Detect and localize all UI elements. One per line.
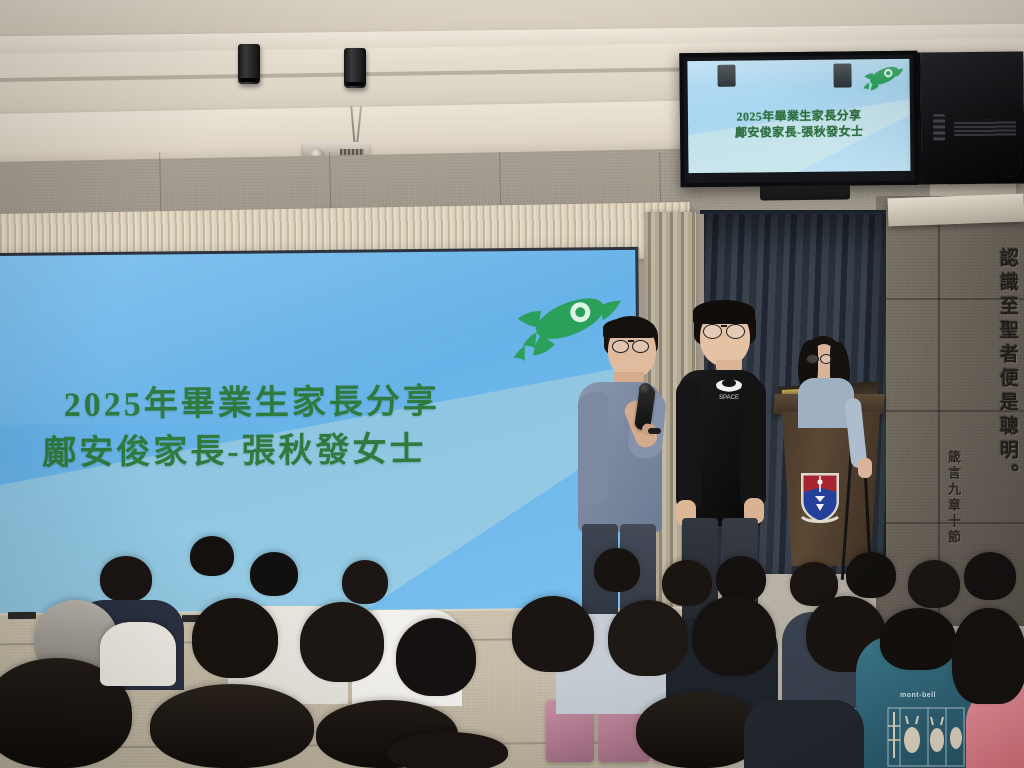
audience-head (952, 608, 1024, 704)
audience-head (100, 556, 152, 602)
svg-text:SPACE: SPACE (719, 395, 739, 401)
slide-title-line-1: 2025年畢業生家長分享 (24, 378, 524, 431)
tv-slide-line-2: 鄺安俊家長-張秋發女士 (688, 123, 910, 142)
audience-head (396, 618, 476, 696)
audience-head (594, 548, 640, 592)
host-glasses (820, 354, 832, 364)
audience-head-foreground (388, 732, 508, 768)
audience-shoulder (100, 622, 176, 686)
beetle-graphic-icon (884, 706, 968, 768)
monitor-vent (954, 120, 1016, 137)
audience-head (512, 596, 594, 672)
audience-head (662, 560, 712, 606)
tv-slide-text: 2025年畢業生家長分享 鄺安俊家長-張秋發女士 (688, 107, 910, 142)
audience-head (300, 602, 384, 682)
microphone-head (639, 383, 652, 396)
wall-inscription-source: 箴言九章十節 (944, 450, 963, 546)
tv-monitor[interactable]: 2025年畢業生家長分享 鄺安俊家長-張秋發女士 (679, 51, 918, 187)
stage-vent-notch (8, 612, 36, 619)
tv-screen: 2025年畢業生家長分享 鄺安俊家長-張秋發女士 (687, 59, 910, 173)
wristband (648, 428, 661, 434)
audience-head (190, 536, 234, 576)
audience-head (608, 600, 688, 676)
monitor-buttons[interactable] (933, 114, 945, 140)
tv-wall-mount (760, 186, 850, 201)
school-crest-icon (798, 470, 842, 526)
host-hand (858, 458, 872, 478)
montbell-logo-text: mont-bell (900, 692, 936, 699)
audience-head (250, 552, 298, 596)
speaker-glasses-bridge (628, 340, 634, 342)
ceiling-spotlight (344, 48, 366, 88)
auditorium-scene: 2025年畢業生家長分享 鄺安俊家長-張秋發女士 認識至聖者便是聰明。 箴言九章… (0, 0, 1024, 768)
speaker-hair-top (603, 318, 655, 338)
audience-head (846, 552, 896, 598)
audience-head (692, 596, 776, 676)
school-crest (798, 470, 842, 526)
slide-title-line-2: 鄺安俊家長-張秋發女士 (24, 426, 524, 479)
wall-air-conditioner (888, 194, 1024, 227)
speaker-left-arm (578, 392, 608, 504)
audience-body-foreground (744, 700, 864, 768)
student-glasses (703, 324, 722, 339)
secondary-monitor-rear (917, 51, 1024, 184)
audience-head-foreground (150, 684, 314, 768)
wall-inscription-text: 認識至聖者便是聰明。 (994, 248, 1021, 488)
audience-head (716, 556, 766, 602)
audience-head (964, 552, 1016, 600)
audience-head (342, 560, 388, 604)
ceiling-spotlight (238, 44, 260, 84)
speaker-glasses (632, 340, 649, 353)
student-left-arm (676, 380, 702, 512)
slide-text-block: 2025年畢業生家長分享 鄺安俊家長-張秋發女士 (24, 378, 525, 479)
student-glasses-bridge (721, 325, 727, 327)
host-glasses (806, 354, 819, 364)
tv-spotlight-shadow (833, 63, 851, 87)
audience-head (192, 598, 278, 678)
speaker-glasses (612, 340, 629, 353)
audience-head (880, 608, 956, 670)
tv-spotlight-shadow (717, 65, 735, 87)
student-glasses (726, 324, 745, 339)
shirt-logo-icon: SPACE (712, 374, 746, 404)
monitor-cable (996, 147, 1022, 177)
audience-head (908, 560, 960, 608)
rocket-icon (859, 61, 905, 97)
student-hair-top (693, 300, 755, 324)
